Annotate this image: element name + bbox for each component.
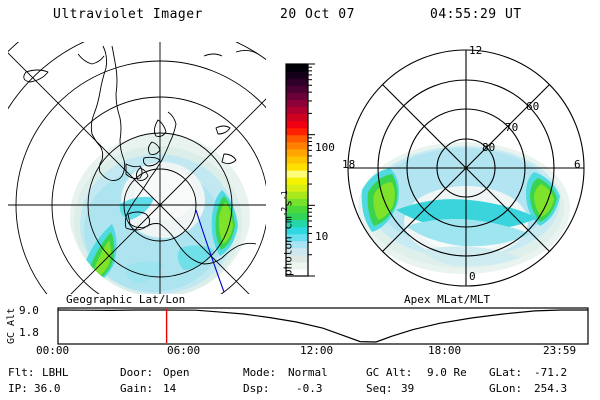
time-tick-0600: 06:00 (167, 344, 200, 357)
status-gain-value: 14 (163, 382, 176, 395)
apex-plot-svg (336, 40, 596, 296)
status-gcalt-key: GC Alt: (366, 366, 412, 379)
status-door-value: Open (163, 366, 190, 379)
mlat-label-70: 70 (505, 121, 518, 134)
apex-polar-plot[interactable]: 12 18 6 0 60 70 80 (336, 40, 596, 296)
geographic-plot-svg (8, 42, 266, 294)
status-mode-value: Normal (288, 366, 328, 379)
uvi-display: Ultraviolet Imager 20 Oct 07 04:55:29 UT (0, 0, 600, 400)
status-ip-value: 36.0 (34, 382, 61, 395)
altitude-tick-min: 1.8 (19, 326, 39, 339)
time-tick-1800: 18:00 (428, 344, 461, 357)
status-seq-value: 39 (401, 382, 414, 395)
status-dsp-key: Dsp: (243, 382, 270, 395)
time-tick-2359: 23:59 (543, 344, 576, 357)
mlt-label-0: 0 (469, 270, 476, 283)
colorbar-unit-s: s (282, 200, 295, 207)
colorbar-ticks (308, 64, 315, 276)
status-glon-value: 254.3 (534, 382, 567, 395)
status-panel: Flt: LBHL Door: Open Mode: Normal GC Alt… (0, 366, 600, 400)
observation-time: 04:55:29 UT (430, 7, 522, 22)
status-gcalt-value: 9.0 Re (427, 366, 467, 379)
status-glat-value: -71.2 (534, 366, 567, 379)
status-flt-value: LBHL (42, 366, 69, 379)
time-tick-0000: 00:00 (36, 344, 69, 357)
status-ip-key: IP: (8, 382, 28, 395)
colorbar-exponent-2: -1 (280, 190, 289, 200)
mlt-label-6: 6 (574, 158, 581, 171)
aurora-emission-right (358, 142, 570, 274)
status-mode-key: Mode: (243, 366, 276, 379)
colorbar-exponent-1: -2 (280, 207, 289, 217)
colorbar-tick-10: 10 (315, 230, 328, 243)
altitude-curve-svg (58, 308, 588, 344)
mlt-spokes (348, 50, 584, 286)
time-tick-1200: 12:00 (300, 344, 333, 357)
status-door-key: Door: (120, 366, 153, 379)
mlat-label-80: 80 (482, 141, 495, 154)
status-seq-key: Seq: (366, 382, 393, 395)
mlt-label-18: 18 (342, 158, 355, 171)
mlt-label-12: 12 (469, 44, 482, 57)
altitude-tick-max: 9.0 (19, 304, 39, 317)
status-gain-key: Gain: (120, 382, 153, 395)
instrument-title: Ultraviolet Imager (53, 7, 203, 22)
colorbar-tick-100: 100 (315, 141, 335, 154)
status-glat-key: GLat: (489, 366, 522, 379)
status-flt-key: Flt: (8, 366, 35, 379)
observation-date: 20 Oct 07 (280, 7, 355, 22)
mlat-label-60: 60 (526, 100, 539, 113)
status-dsp-value: -0.3 (296, 382, 323, 395)
status-glon-key: GLon: (489, 382, 522, 395)
colorbar-unit-photon: photon cm (282, 216, 295, 276)
geographic-polar-plot[interactable] (8, 42, 266, 294)
